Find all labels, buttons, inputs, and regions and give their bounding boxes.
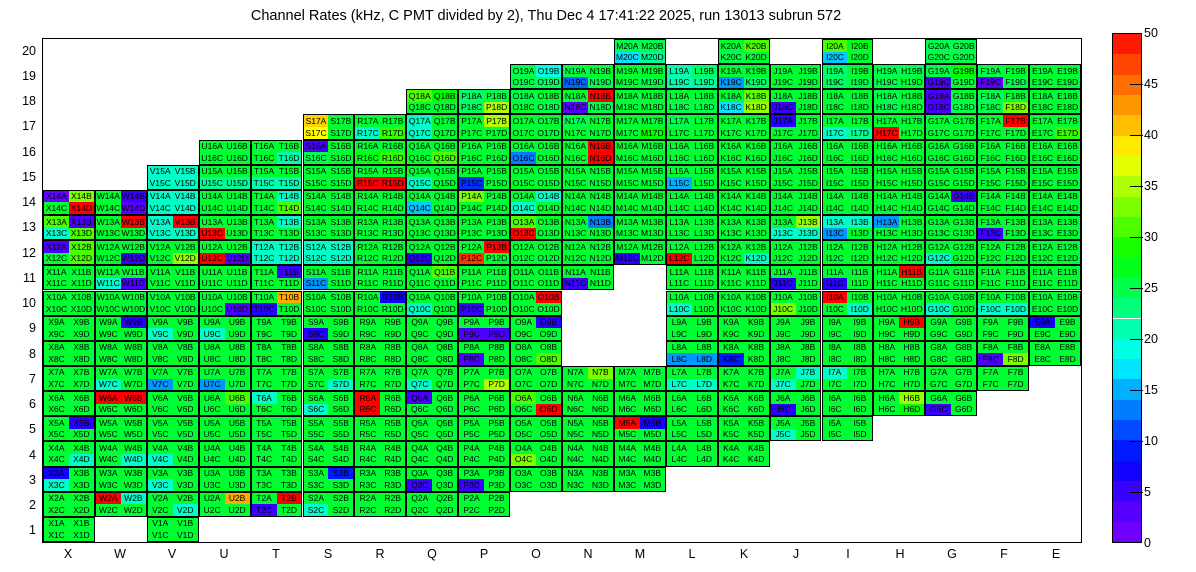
channel-cell: Q5A xyxy=(407,417,432,429)
y-axis-label: 14 xyxy=(10,195,36,209)
channel-cell: P17D xyxy=(484,127,509,139)
channel-cell: J11C xyxy=(771,278,796,290)
channel-cell: K8C xyxy=(719,353,744,365)
channel-cell: H9C xyxy=(874,328,899,340)
y-axis-label: 11 xyxy=(10,271,36,285)
channel-cell: T10B xyxy=(277,292,302,304)
heatmap-module: F15AF15BF15CF15D xyxy=(977,165,1029,190)
channel-cell: L6B xyxy=(692,392,717,404)
heatmap-module: I10AI10BI10CI10D xyxy=(822,291,874,316)
x-axis-label: W xyxy=(114,547,126,561)
channel-cell: T16B xyxy=(277,141,302,153)
channel-cell: L19A xyxy=(667,65,692,77)
channel-cell: G10B xyxy=(951,292,976,304)
channel-cell: H14A xyxy=(874,191,899,203)
channel-cell: S14A xyxy=(304,191,329,203)
channel-cell: V2D xyxy=(173,504,198,516)
channel-cell: H16A xyxy=(874,141,899,153)
channel-cell: S12C xyxy=(304,253,329,265)
channel-cell: T9B xyxy=(277,317,302,329)
channel-cell: O16C xyxy=(511,152,536,164)
channel-cell: K15C xyxy=(719,177,744,189)
channel-cell: F12A xyxy=(978,241,1003,253)
x-axis-label: H xyxy=(895,547,904,561)
channel-cell: Q9D xyxy=(432,328,457,340)
channel-cell: N7C xyxy=(563,379,588,391)
channel-cell: S11B xyxy=(328,266,353,278)
channel-cell: O3D xyxy=(536,479,561,491)
channel-cell: R16B xyxy=(380,141,405,153)
channel-cell: R8D xyxy=(380,353,405,365)
channel-cell: G8C xyxy=(926,353,951,365)
channel-cell: F11D xyxy=(1003,278,1028,290)
channel-cell: P4A xyxy=(459,442,484,454)
heatmap-module: X14AX14BX14CX14D xyxy=(43,190,95,215)
channel-cell: Q15A xyxy=(407,166,432,178)
channel-cell: O19D xyxy=(536,77,561,89)
channel-cell: U9C xyxy=(200,328,225,340)
channel-cell: L6C xyxy=(667,404,692,416)
heatmap-module: K16AK16BK16CK16D xyxy=(718,140,770,165)
channel-cell: W8D xyxy=(121,353,146,365)
channel-cell: L16B xyxy=(692,141,717,153)
channel-cell: I7C xyxy=(823,379,848,391)
channel-cell: I11A xyxy=(823,266,848,278)
channel-cell: W5A xyxy=(96,417,121,429)
channel-cell: V11B xyxy=(173,266,198,278)
channel-cell: M15B xyxy=(640,166,665,178)
channel-cell: V15D xyxy=(173,177,198,189)
channel-cell: W7B xyxy=(121,367,146,379)
channel-cell: T3A xyxy=(252,468,277,480)
channel-cell: X3C xyxy=(44,479,69,491)
colorbar-tick-label: 0 xyxy=(1144,536,1151,550)
heatmap-module: F16AF16BF16CF16D xyxy=(977,140,1029,165)
channel-cell: R8A xyxy=(355,342,380,354)
channel-cell: L9A xyxy=(667,317,692,329)
heatmap-module: R17AR17BR17CR17D xyxy=(354,114,406,139)
channel-cell: S10C xyxy=(304,303,329,315)
channel-cell: K8B xyxy=(744,342,769,354)
heatmap-module: Q5AQ5BQ5CQ5D xyxy=(406,416,458,441)
heatmap-module: P12AP12BP12CP12D xyxy=(458,240,510,265)
channel-cell: T16C xyxy=(252,152,277,164)
channel-cell: E10B xyxy=(1055,292,1080,304)
channel-cell: N13B xyxy=(588,216,613,228)
channel-cell: P2D xyxy=(484,504,509,516)
channel-cell: N19C xyxy=(563,77,588,89)
heatmap-module: L6AL6BL6CL6D xyxy=(666,391,718,416)
channel-cell: P14A xyxy=(459,191,484,203)
channel-cell: L9C xyxy=(667,328,692,340)
channel-cell: S14D xyxy=(328,202,353,214)
channel-cell: S2D xyxy=(328,504,353,516)
channel-cell: S6B xyxy=(328,392,353,404)
channel-cell: V4B xyxy=(173,442,198,454)
channel-cell: M13B xyxy=(640,216,665,228)
channel-cell: Q7D xyxy=(432,379,457,391)
channel-cell: X1D xyxy=(69,529,94,541)
heatmap-module: T11AT11BT11CT11D xyxy=(251,265,303,290)
heatmap-module: H9AH9BH9CH9D xyxy=(873,316,925,341)
channel-cell: O9B xyxy=(536,317,561,329)
heatmap-module: P4AP4BP4CP4D xyxy=(458,441,510,466)
channel-cell: H6D xyxy=(899,404,924,416)
heatmap-module: J6AJ6BJ6CJ6D xyxy=(770,391,822,416)
channel-cell: E9A xyxy=(1030,317,1055,329)
channel-cell: H15D xyxy=(899,177,924,189)
channel-cell: K19D xyxy=(744,77,769,89)
channel-cell: G20B xyxy=(951,40,976,52)
channel-cell: T7A xyxy=(252,367,277,379)
channel-cell: K7A xyxy=(719,367,744,379)
channel-cell: P18B xyxy=(484,90,509,102)
channel-cell: L4D xyxy=(692,454,717,466)
channel-cell: M3B xyxy=(640,468,665,480)
channel-cell: W14C xyxy=(96,202,121,214)
heatmap-module: N17AN17BN17CN17D xyxy=(562,114,614,139)
channel-cell: V5A xyxy=(148,417,173,429)
channel-cell: N11B xyxy=(588,266,613,278)
colorbar-ticks: 05101520253035404550 xyxy=(1112,33,1192,543)
channel-cell: J17D xyxy=(796,127,821,139)
channel-cell: L13B xyxy=(692,216,717,228)
channel-cell: X14C xyxy=(44,202,69,214)
channel-cell: W13A xyxy=(96,216,121,228)
channel-cell: G6A xyxy=(926,392,951,404)
channel-cell: P13B xyxy=(484,216,509,228)
heatmap-module: W7AW7BW7CW7D xyxy=(95,366,147,391)
heatmap-module: T7AT7BT7CT7D xyxy=(251,366,303,391)
channel-cell: O4A xyxy=(511,442,536,454)
heatmap-module: T5AT5BT5CT5D xyxy=(251,416,303,441)
channel-cell: V1B xyxy=(173,518,198,530)
channel-cell: R5A xyxy=(355,417,380,429)
channel-cell: U12B xyxy=(225,241,250,253)
channel-cell: V1C xyxy=(148,529,173,541)
channel-cell: V6A xyxy=(148,392,173,404)
channel-cell: Q6B xyxy=(432,392,457,404)
channel-cell: H10A xyxy=(874,292,899,304)
heatmap-module: S10AS10BS10CS10D xyxy=(303,291,355,316)
channel-cell: F12D xyxy=(1003,253,1028,265)
channel-cell: V15B xyxy=(173,166,198,178)
channel-cell: K6C xyxy=(719,404,744,416)
channel-cell: Q15B xyxy=(432,166,457,178)
channel-cell: R15A xyxy=(355,166,380,178)
channel-cell: X6D xyxy=(69,404,94,416)
channel-cell: K16B xyxy=(744,141,769,153)
channel-cell: V8B xyxy=(173,342,198,354)
channel-cell: U12C xyxy=(200,253,225,265)
channel-cell: G18C xyxy=(926,102,951,114)
channel-cell: Q8A xyxy=(407,342,432,354)
channel-cell: S6A xyxy=(304,392,329,404)
channel-cell: V2C xyxy=(148,504,173,516)
channel-cell: H11A xyxy=(874,266,899,278)
channel-cell: O6B xyxy=(536,392,561,404)
channel-cell: I9B xyxy=(847,317,872,329)
channel-cell: K10D xyxy=(744,303,769,315)
heatmap-module: F12AF12BF12CF12D xyxy=(977,240,1029,265)
channel-cell: F12B xyxy=(1003,241,1028,253)
channel-cell: F7A xyxy=(978,367,1003,379)
channel-cell: O17D xyxy=(536,127,561,139)
channel-cell: R2C xyxy=(355,504,380,516)
channel-cell: F17A xyxy=(978,115,1003,127)
channel-cell: H14D xyxy=(899,202,924,214)
channel-cell: W8A xyxy=(96,342,121,354)
channel-cell: J6C xyxy=(771,404,796,416)
channel-cell: O16A xyxy=(511,141,536,153)
channel-cell: R17A xyxy=(355,115,380,127)
channel-cell: O3A xyxy=(511,468,536,480)
channel-cell: T5B xyxy=(277,417,302,429)
channel-cell: R10D xyxy=(380,303,405,315)
channel-cell: S3C xyxy=(304,479,329,491)
channel-cell: F10C xyxy=(978,303,1003,315)
heatmap-module: E8AE8BE8CE8D xyxy=(1029,341,1081,366)
x-axis-label: J xyxy=(793,547,799,561)
heatmap-module: U8AU8BU8CU8D xyxy=(199,341,251,366)
channel-cell: L10A xyxy=(667,292,692,304)
heatmap-module: R16AR16BR16CR16D xyxy=(354,140,406,165)
channel-cell: L12A xyxy=(667,241,692,253)
channel-cell: N6A xyxy=(563,392,588,404)
channel-cell: G12A xyxy=(926,241,951,253)
channel-cell: R8B xyxy=(380,342,405,354)
channel-cell: X4C xyxy=(44,454,69,466)
channel-cell: J16D xyxy=(796,152,821,164)
channel-cell: R6B xyxy=(380,392,405,404)
heatmap-module: H11AH11BH11CH11D xyxy=(873,265,925,290)
channel-cell: E17C xyxy=(1030,127,1055,139)
channel-cell: R4D xyxy=(380,454,405,466)
channel-cell: X12A xyxy=(44,241,69,253)
colorbar-tick-mark xyxy=(1130,186,1143,187)
channel-cell: W13D xyxy=(121,228,146,240)
channel-cell: S2B xyxy=(328,493,353,505)
heatmap-module: P8AP8BP8CP8D xyxy=(458,341,510,366)
channel-cell: F9D xyxy=(1003,328,1028,340)
channel-cell: H18C xyxy=(874,102,899,114)
heatmap-module: K15AK15BK15CK15D xyxy=(718,165,770,190)
channel-cell: H16D xyxy=(899,152,924,164)
channel-cell: Q14C xyxy=(407,202,432,214)
channel-cell: F15A xyxy=(978,166,1003,178)
heatmap-module: H8AH8BH8CH8D xyxy=(873,341,925,366)
channel-cell: V10A xyxy=(148,292,173,304)
channel-cell: W4D xyxy=(121,454,146,466)
channel-cell: K14A xyxy=(719,191,744,203)
channel-cell: V14B xyxy=(173,191,198,203)
heatmap-module: T16AT16BT16CT16D xyxy=(251,140,303,165)
channel-cell: F16D xyxy=(1003,152,1028,164)
channel-cell: P4B xyxy=(484,442,509,454)
channel-cell: X11C xyxy=(44,278,69,290)
channel-cell: I8D xyxy=(847,353,872,365)
channel-cell: L5D xyxy=(692,429,717,441)
channel-cell: W12B xyxy=(121,241,146,253)
channel-cell: T13B xyxy=(277,216,302,228)
channel-cell: X13B xyxy=(69,216,94,228)
channel-cell: K6A xyxy=(719,392,744,404)
channel-cell: M20D xyxy=(640,52,665,64)
channel-cell: K12C xyxy=(719,253,744,265)
channel-cell: Q10D xyxy=(432,303,457,315)
channel-cell: N12C xyxy=(563,253,588,265)
channel-cell: V14D xyxy=(173,202,198,214)
channel-cell: U10A xyxy=(200,292,225,304)
channel-cell: V3D xyxy=(173,479,198,491)
channel-cell: G14A xyxy=(926,191,951,203)
y-axis-label: 13 xyxy=(10,220,36,234)
channel-cell: I12A xyxy=(823,241,848,253)
channel-cell: X10D xyxy=(69,303,94,315)
channel-cell: L9B xyxy=(692,317,717,329)
heatmap-module: R15AR15BR15CR15D xyxy=(354,165,406,190)
channel-cell: E9D xyxy=(1055,328,1080,340)
heatmap-module: L18AL18BL18CL18D xyxy=(666,89,718,114)
channel-cell: E12D xyxy=(1055,253,1080,265)
channel-cell: V3A xyxy=(148,468,173,480)
channel-cell: G19A xyxy=(926,65,951,77)
channel-cell: M13D xyxy=(640,228,665,240)
channel-cell: V6D xyxy=(173,404,198,416)
channel-cell: I6B xyxy=(847,392,872,404)
heatmap-module: H15AH15BH15CH15D xyxy=(873,165,925,190)
heatmap-module: F7AF7BF7CF7D xyxy=(977,366,1029,391)
channel-cell: W7D xyxy=(121,379,146,391)
channel-cell: U11C xyxy=(200,278,225,290)
colorbar-tick-label: 40 xyxy=(1144,128,1158,142)
channel-cell: I20B xyxy=(847,40,872,52)
channel-cell: J13B xyxy=(796,216,821,228)
channel-cell: I9C xyxy=(823,328,848,340)
heatmap-module: S11AS11BS11CS11D xyxy=(303,265,355,290)
heatmap-module: O11AO11BO11CO11D xyxy=(510,265,562,290)
channel-cell: L11A xyxy=(667,266,692,278)
channel-cell: Q6C xyxy=(407,404,432,416)
channel-cell: O14D xyxy=(536,202,561,214)
channel-cell: E13B xyxy=(1055,216,1080,228)
channel-cell: U6D xyxy=(225,404,250,416)
colorbar-tick-mark xyxy=(1130,84,1143,85)
channel-cell: F17D xyxy=(1003,127,1028,139)
channel-cell: F12C xyxy=(978,253,1003,265)
channel-cell: I9A xyxy=(823,317,848,329)
colorbar-tick-mark xyxy=(1130,492,1143,493)
channel-cell: I10D xyxy=(847,303,872,315)
channel-cell: S2A xyxy=(304,493,329,505)
channel-cell: N16B xyxy=(588,141,613,153)
heatmap-module: P16AP16BP16CP16D xyxy=(458,140,510,165)
heatmap-module: U5AU5BU5CU5D xyxy=(199,416,251,441)
channel-cell: R11A xyxy=(355,266,380,278)
channel-cell: U6A xyxy=(200,392,225,404)
channel-cell: N15B xyxy=(588,166,613,178)
channel-cell: R11D xyxy=(380,278,405,290)
channel-cell: G13C xyxy=(926,228,951,240)
channel-cell: V2B xyxy=(173,493,198,505)
channel-cell: L8D xyxy=(692,353,717,365)
channel-cell: P3C xyxy=(459,479,484,491)
channel-cell: G20A xyxy=(926,40,951,52)
channel-cell: K12D xyxy=(744,253,769,265)
channel-cell: G9D xyxy=(951,328,976,340)
channel-cell: S17D xyxy=(328,127,353,139)
channel-cell: N12D xyxy=(588,253,613,265)
channel-cell: U13A xyxy=(200,216,225,228)
channel-cell: R13D xyxy=(380,228,405,240)
heatmap-module: V5AV5BV5CV5D xyxy=(147,416,199,441)
channel-cell: T4A xyxy=(252,442,277,454)
channel-cell: V13D xyxy=(173,228,198,240)
channel-cell: P18A xyxy=(459,90,484,102)
heatmap-module: L4AL4BL4CL4D xyxy=(666,441,718,466)
channel-cell: U9B xyxy=(225,317,250,329)
channel-cell: Q8C xyxy=(407,353,432,365)
channel-cell: M3C xyxy=(615,479,640,491)
heatmap-module: H6AH6BH6CH6D xyxy=(873,391,925,416)
heatmap-module: G8AG8BG8CG8D xyxy=(925,341,977,366)
channel-cell: V12B xyxy=(173,241,198,253)
heatmap-module: Q12AQ12BQ12CQ12D xyxy=(406,240,458,265)
channel-cell: R16D xyxy=(380,152,405,164)
channel-cell: U5D xyxy=(225,429,250,441)
channel-cell: R4B xyxy=(380,442,405,454)
channel-cell: Q7A xyxy=(407,367,432,379)
heatmap-module: S6AS6BS6CS6D xyxy=(303,391,355,416)
channel-cell: J15B xyxy=(796,166,821,178)
channel-cell: P8B xyxy=(484,342,509,354)
channel-cell: N13A xyxy=(563,216,588,228)
heatmap-plot: M20AM20BM20CM20DK20AK20BK20CK20DI20AI20B… xyxy=(42,38,1082,543)
channel-cell: K5B xyxy=(744,417,769,429)
channel-cell: O9A xyxy=(511,317,536,329)
channel-cell: K15B xyxy=(744,166,769,178)
channel-cell: E13C xyxy=(1030,228,1055,240)
channel-cell: R17D xyxy=(380,127,405,139)
channel-cell: I16A xyxy=(823,141,848,153)
channel-cell: M20C xyxy=(615,52,640,64)
channel-cell: S7C xyxy=(304,379,329,391)
channel-cell: U12A xyxy=(200,241,225,253)
channel-cell: R15C xyxy=(355,177,380,189)
channel-cell: P16B xyxy=(484,141,509,153)
channel-cell: H6C xyxy=(874,404,899,416)
heatmap-module: N11AN11BN11CN11D xyxy=(562,265,614,290)
heatmap-module: O16AO16BO16CO16D xyxy=(510,140,562,165)
heatmap-module: P9AP9BP9CP9D xyxy=(458,316,510,341)
channel-cell: E15A xyxy=(1030,166,1055,178)
channel-cell: E11C xyxy=(1030,278,1055,290)
channel-cell: M5B xyxy=(640,417,665,429)
channel-cell: X2A xyxy=(44,493,69,505)
channel-cell: F19A xyxy=(978,65,1003,77)
channel-cell: G6C xyxy=(926,404,951,416)
x-axis-label: F xyxy=(1000,547,1008,561)
heatmap-module: U15AU15BU15CU15D xyxy=(199,165,251,190)
heatmap-module: F13AF13BF13CF13D xyxy=(977,215,1029,240)
channel-cell: P9D xyxy=(484,328,509,340)
channel-cell: N13C xyxy=(563,228,588,240)
channel-cell: J19C xyxy=(771,77,796,89)
channel-cell: V9C xyxy=(148,328,173,340)
heatmap-module: J18AJ18BJ18CJ18D xyxy=(770,89,822,114)
heatmap-module: G11AG11BG11CG11D xyxy=(925,265,977,290)
channel-cell: J11A xyxy=(771,266,796,278)
